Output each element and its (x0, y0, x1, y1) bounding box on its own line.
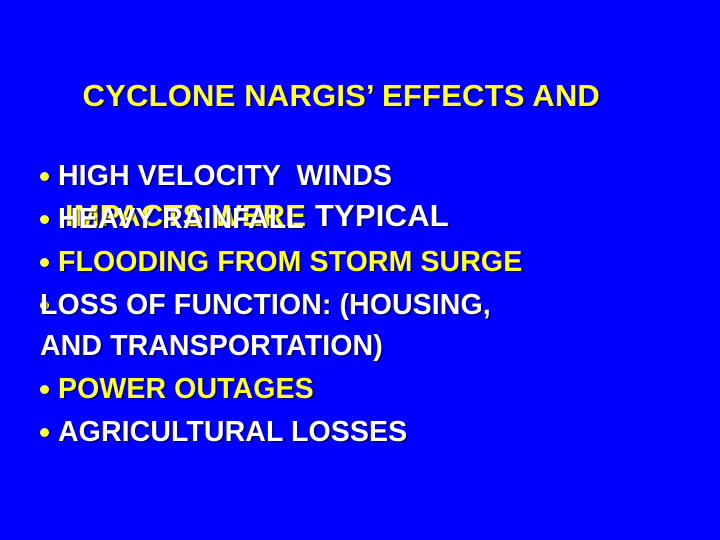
list-item: LOSS OF FUNCTION: (HOUSING, AND TRANSPOR… (40, 285, 708, 367)
bullet-dot-icon (40, 258, 49, 267)
presentation-slide: CYCLONE NARGIS’ EFFECTS AND IMPACTS WERE… (0, 0, 720, 540)
list-item-label: AGRICULTURAL LOSSES (58, 412, 708, 453)
bullet-list: HIGH VELOCITY WINDS HEAVY RAINFALL FLOOD… (40, 156, 708, 455)
title-line-1-text: CYCLONE NARGIS’ EFFECTS AND (65, 78, 600, 113)
list-item: FLOODING FROM STORM SURGE (40, 242, 708, 283)
list-item-label: FLOODING FROM STORM SURGE (58, 242, 708, 283)
bullet-dot-icon (40, 215, 49, 224)
bullet-dot-icon (40, 428, 49, 437)
list-item: POWER OUTAGES (40, 369, 708, 410)
list-item-label: LOSS OF FUNCTION: (HOUSING, AND TRANSPOR… (40, 285, 708, 367)
list-item-label: HEAVY RAINFALL (58, 199, 708, 240)
list-item-label: POWER OUTAGES (58, 369, 708, 410)
list-item-label: HIGH VELOCITY WINDS (58, 156, 708, 197)
list-item: HIGH VELOCITY WINDS (40, 156, 708, 197)
list-item: AGRICULTURAL LOSSES (40, 412, 708, 453)
list-item: HEAVY RAINFALL (40, 199, 708, 240)
bullet-dot-icon (40, 172, 49, 181)
bullet-dot-icon (40, 385, 49, 394)
title-line-1: CYCLONE NARGIS’ EFFECTS AND (12, 36, 708, 156)
